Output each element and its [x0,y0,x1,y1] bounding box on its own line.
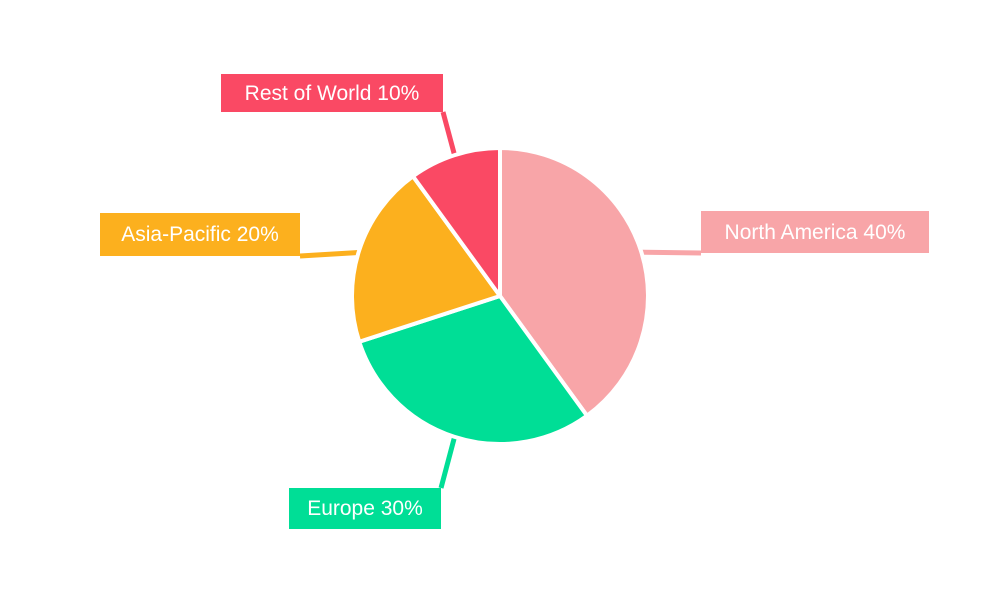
pie-label-rest-of-world[interactable]: Rest of World 10% [221,74,443,112]
pie-label-europe-text: Europe 30% [307,498,423,519]
leader-line-europe [441,431,456,488]
pie-label-asia-pacific-text: Asia-Pacific 20% [121,224,279,245]
pie-label-asia-pacific[interactable]: Asia-Pacific 20% [100,213,300,256]
leader-line-north-america [635,252,701,253]
pie-label-rest-of-world-text: Rest of World 10% [245,83,420,104]
pie-label-europe[interactable]: Europe 30% [289,488,441,529]
pie-chart-figure: North America 40% Europe 30% Asia-Pacifi… [0,0,1000,600]
pie-label-north-america-text: North America 40% [725,222,906,243]
pie-label-north-america[interactable]: North America 40% [701,211,929,253]
pie-slices [352,148,648,444]
leader-line-asia-pacific [300,252,365,256]
pie-chart-canvas [0,0,1000,600]
